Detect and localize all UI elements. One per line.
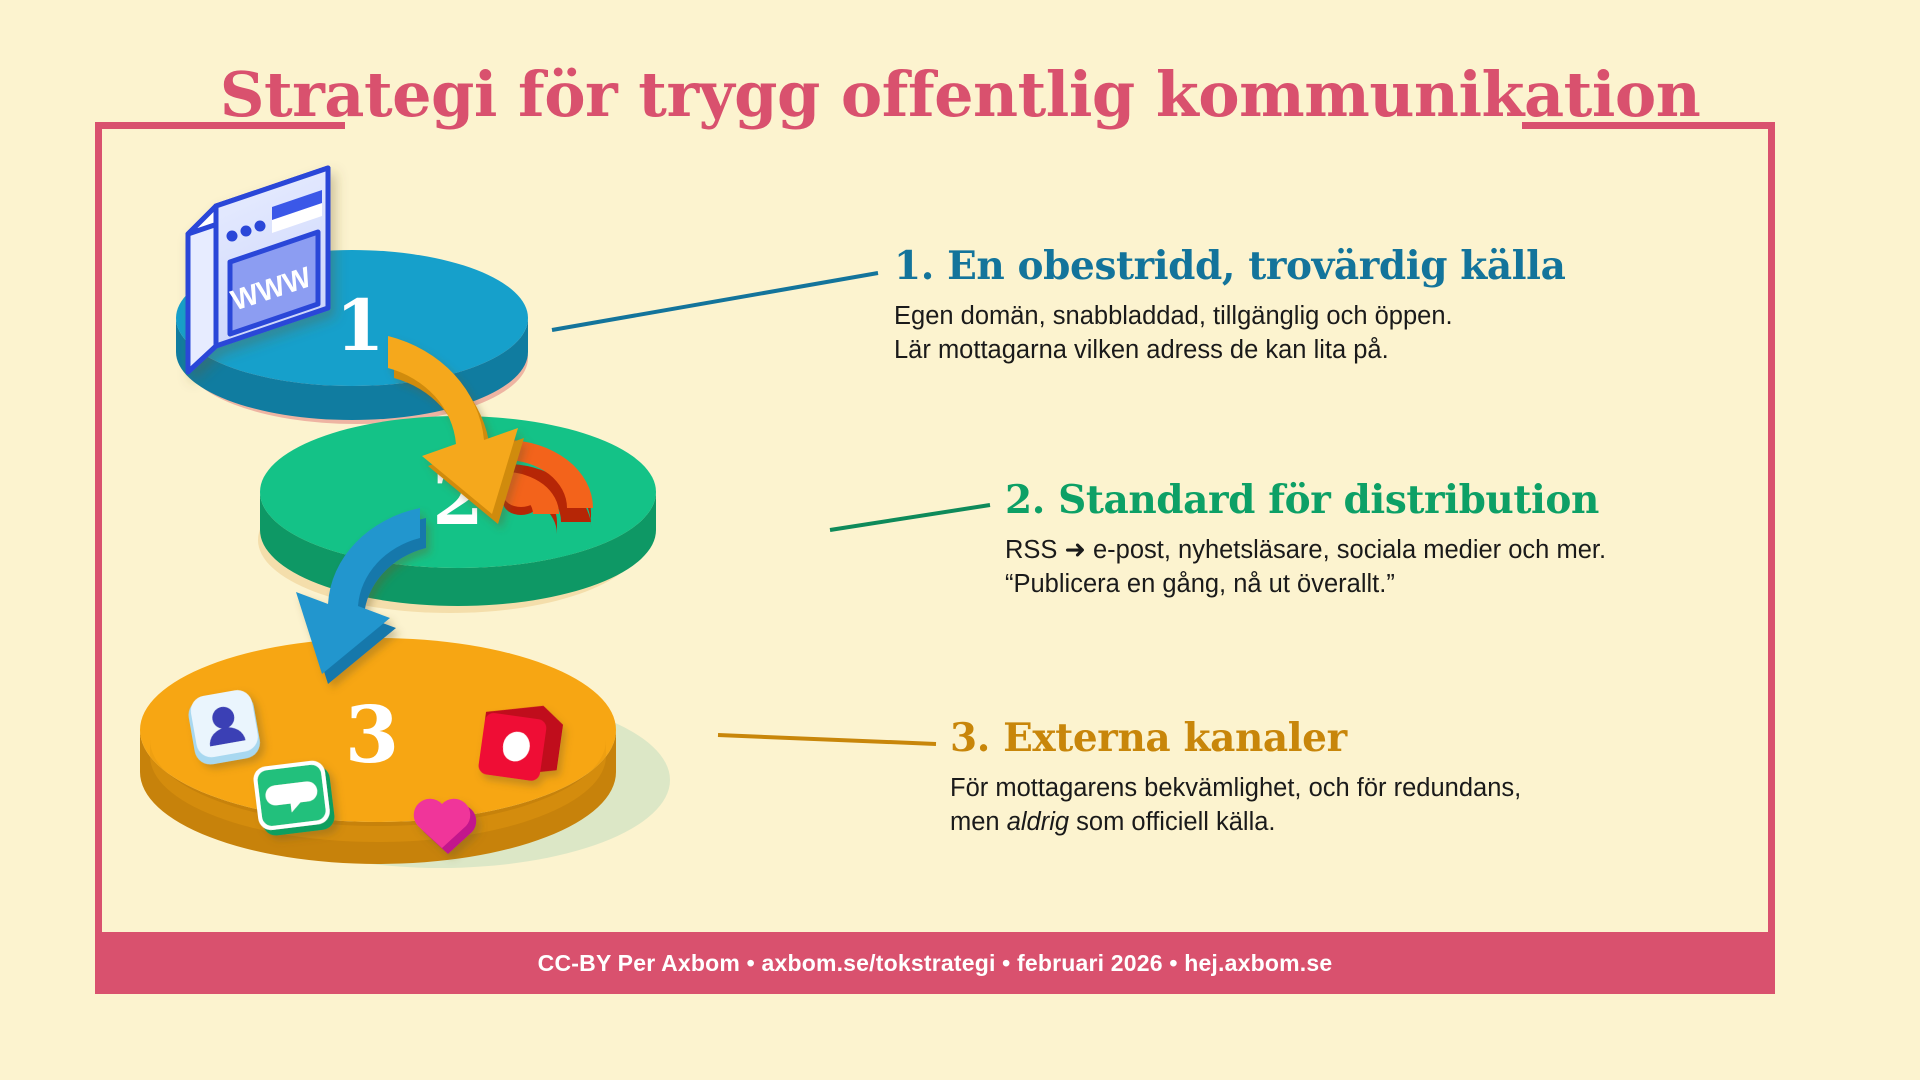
footer-credit-text: CC-BY Per Axbom • axbom.se/tokstrategi •… <box>538 950 1333 977</box>
frame-border-right <box>1768 122 1775 932</box>
person-profile-icon <box>185 688 262 767</box>
page-title: Strategi för trygg offentlig kommunikati… <box>0 58 1920 131</box>
step-1-body-line-2: Lär mottagarna vilken adress de kan lita… <box>894 333 1565 367</box>
footer-bar: CC-BY Per Axbom • axbom.se/tokstrategi •… <box>95 932 1775 994</box>
chat-bubble-icon <box>252 759 336 838</box>
disc-number-3: 3 <box>345 690 399 781</box>
step-2-body-line-2: “Publicera en gång, nå ut överallt.” <box>1005 567 1606 601</box>
step-2-heading: 2. Standard för distribution <box>1005 477 1606 523</box>
step-3-heading: 3. Externa kanaler <box>950 715 1521 761</box>
step-1-text-block: 1. En obestridd, trovärdig källa Egen do… <box>894 243 1565 367</box>
step-3-body-pre: men <box>950 808 1007 836</box>
step-3-body-emphasis: aldrig <box>1007 808 1069 836</box>
disc-number-1: 1 <box>336 284 385 367</box>
step-2-body-line-1: RSS ➜ e-post, nyhetsläsare, sociala medi… <box>1005 533 1606 567</box>
step-3-body-line-2: men aldrig som officiell källa. <box>950 805 1521 839</box>
step-3-body-line-1: För mottagarens bekvämlighet, och för re… <box>950 771 1521 805</box>
infographic-canvas: Strategi för trygg offentlig kommunikati… <box>0 0 1920 1080</box>
stacked-discs-illustration: 3 2 <box>120 140 920 930</box>
step-3-body-post: som officiell källa. <box>1069 808 1275 836</box>
step-3-text-block: 3. Externa kanaler För mottagarens bekvä… <box>950 715 1521 839</box>
step-2-text-block: 2. Standard för distribution RSS ➜ e-pos… <box>1005 477 1606 601</box>
step-1-body-line-1: Egen domän, snabbladdad, tillgänglig och… <box>894 299 1565 333</box>
step-1-heading: 1. En obestridd, trovärdig källa <box>894 243 1565 289</box>
frame-border-left <box>95 122 102 932</box>
